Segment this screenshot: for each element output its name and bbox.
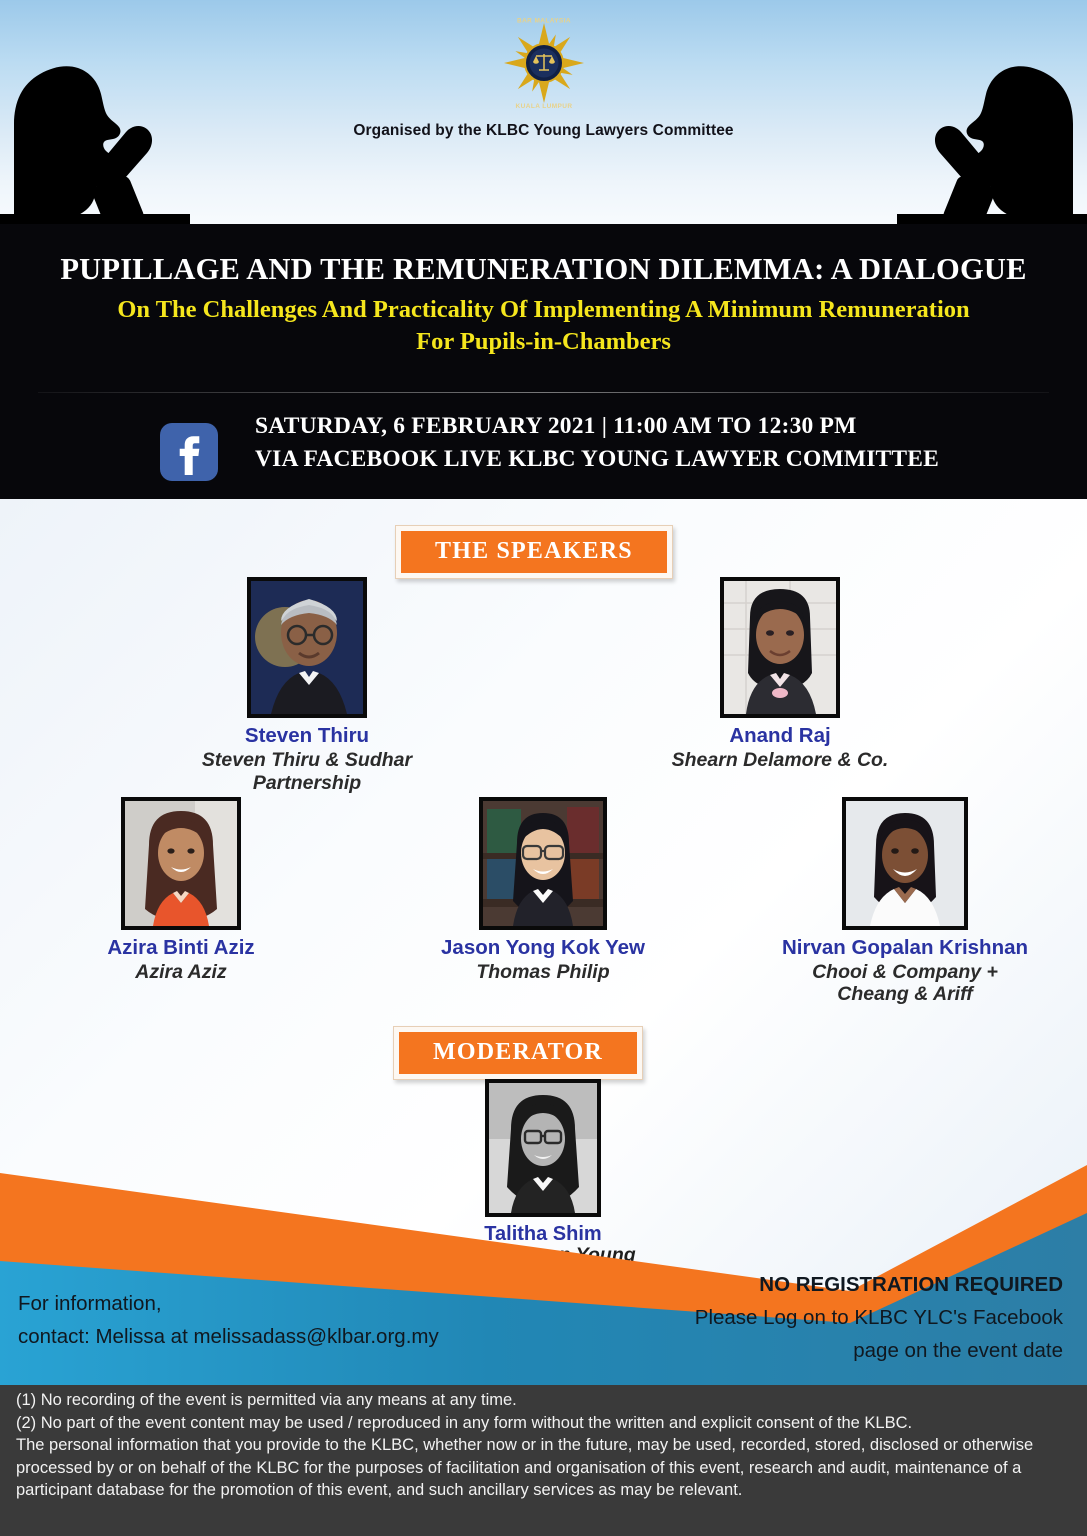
speaker-card-azira-binti-aziz: Azira Binti Aziz Azira Aziz (21, 797, 341, 984)
registration-heading: NO REGISTRATION REQUIRED (543, 1268, 1063, 1301)
contact-line-2: contact: Melissa at melissadass@klbar.or… (18, 1320, 578, 1353)
hero-header: BAR MALAYSIA KUALA LUMPUR Organised by t… (0, 0, 1087, 228)
event-platform-line: VIA FACEBOOK LIVE KLBC YOUNG LAWYER COMM… (255, 443, 1015, 476)
registration-line-2: page on the event date (543, 1334, 1063, 1367)
divider (38, 392, 1049, 393)
speaker-name: Steven Thiru (147, 725, 467, 748)
svg-text:BAR MALAYSIA: BAR MALAYSIA (516, 18, 570, 25)
speaker-photo-nirvan-gopalan-krishnan (842, 797, 968, 930)
speakers-banner: THE SPEAKERS (395, 525, 673, 579)
svg-text:KUALA LUMPUR: KUALA LUMPUR (515, 103, 572, 110)
speaker-card-nirvan-gopalan-krishnan: Nirvan Gopalan Krishnan Chooi & Company … (740, 797, 1070, 1005)
page-subtitle: On The Challenges And Practicality Of Im… (36, 294, 1051, 358)
speaker-photo-anand-raj (720, 577, 840, 718)
contact-info: For information, contact: Melissa at mel… (18, 1287, 578, 1353)
speaker-firm: Shearn Delamore & Co. (620, 749, 940, 772)
moderator-banner-label: MODERATOR (433, 1039, 603, 1066)
event-date-line: SATURDAY, 6 FEBRUARY 2021 | 11:00 AM TO … (255, 410, 1015, 443)
footer-item-1: (1) No recording of the event is permitt… (16, 1389, 1074, 1412)
event-datetime: SATURDAY, 6 FEBRUARY 2021 | 11:00 AM TO … (255, 410, 1015, 477)
speaker-card-jason-yong-kok-yew: Jason Yong Kok Yew Thomas Philip (383, 797, 703, 984)
bar-malaysia-logo-icon: BAR MALAYSIA KUALA LUMPUR (498, 13, 590, 113)
moderator-banner: MODERATOR (393, 1026, 643, 1080)
facebook-icon (160, 423, 218, 481)
speaker-name: Jason Yong Kok Yew (383, 937, 703, 960)
speaker-card-anand-raj: Anand Raj Shearn Delamore & Co. (620, 577, 940, 772)
footer-item-2: (2) No part of the event content may be … (16, 1412, 1074, 1435)
speaker-name: Azira Binti Aziz (21, 937, 341, 960)
subtitle-line-1: On The Challenges And Practicality Of Im… (36, 294, 1051, 326)
speaker-firm: Thomas Philip (383, 961, 703, 984)
subtitle-line-2: For Pupils-in-Chambers (36, 326, 1051, 358)
speaker-photo-steven-thiru (247, 577, 367, 718)
footer-disclaimer: (1) No recording of the event is permitt… (0, 1385, 1087, 1536)
footer-privacy-notice: The personal information that you provid… (16, 1434, 1074, 1502)
speaker-firm-line-2: Cheang & Ariff (740, 983, 1070, 1006)
speaker-firm: Steven Thiru & Sudhar Partnership (147, 749, 467, 794)
speaker-firm-line-1: Chooi & Company + (740, 961, 1070, 984)
speaker-photo-jason-yong-kok-yew (479, 797, 607, 930)
event-poster: BAR MALAYSIA KUALA LUMPUR Organised by t… (0, 0, 1087, 1536)
speaker-name: Anand Raj (620, 725, 940, 748)
speakers-banner-label: THE SPEAKERS (435, 538, 633, 565)
speaker-firm: Azira Aziz (21, 961, 341, 984)
registration-info: NO REGISTRATION REQUIRED Please Log on t… (543, 1268, 1063, 1368)
organiser-line: Organised by the KLBC Young Lawyers Comm… (0, 122, 1087, 140)
registration-line-1: Please Log on to KLBC YLC's Facebook (543, 1301, 1063, 1334)
contact-line-1: For information, (18, 1287, 578, 1320)
speaker-photo-azira-binti-aziz (121, 797, 241, 930)
speaker-card-steven-thiru: Steven Thiru Steven Thiru & Sudhar Partn… (147, 577, 467, 794)
speaker-name: Nirvan Gopalan Krishnan (740, 937, 1070, 960)
page-title: PUPILLAGE AND THE REMUNERATION DILEMMA: … (0, 252, 1087, 287)
